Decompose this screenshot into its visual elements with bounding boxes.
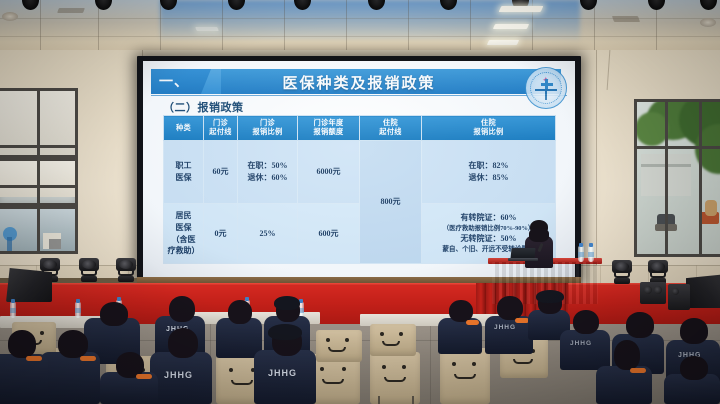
cell-outpatient-annual-cap: 600元 [298,204,360,264]
uniform-logo-text: JHHG [268,368,297,378]
wall-seam [607,50,611,90]
th-outpatient-ratio: 门诊 报销比例 [238,116,298,141]
baseball-cap [274,296,300,310]
cell-outpatient-ratio: 25% [238,204,298,264]
th-outpatient-annual-cap: 门诊年度 报销额度 [298,116,360,141]
audience-member [438,300,482,354]
th-inpatient-deductible: 住院 起付线 [360,116,422,141]
audience-member [0,330,48,404]
moving-head-light [79,258,99,282]
baseball-cap [536,290,564,303]
table-header-row: 种类 门诊 起付线 门诊 报销比例 门诊年度 报销额度 [164,116,556,141]
water-bottle [75,302,81,318]
ceiling [0,0,720,56]
cell-inpatient-ratio: 在职：82% 退休：85% [422,141,556,204]
slide-subtitle: （二）报销政策 [163,99,244,115]
audience-member [40,330,100,404]
outdoor-tree [635,112,669,146]
uniform-logo-text: JHHG [164,370,193,380]
ceiling-spotlight [22,0,39,10]
uniform-logo-text: JHHG [494,324,516,331]
ceiling-light-panel [499,6,544,12]
cell-inpatient-deductible-merged: 800元 [360,141,422,264]
uniform-logo-text: JHHG [570,340,592,347]
audience-member [596,340,652,404]
left-window-bottom-glass [0,206,78,254]
presenter-laptop [508,248,538,261]
ceiling-light-panel [487,40,519,45]
stage-monitor-speaker [6,268,52,302]
moving-head-light [116,258,136,282]
ceiling-vent [612,16,640,22]
audience-chair[interactable] [440,348,490,404]
audience-chair[interactable] [370,324,416,356]
th-category: 种类 [164,116,204,141]
th-outpatient-deductible: 门诊 起付线 [204,116,238,141]
water-bottle [578,246,584,262]
cell-outpatient-ratio: 在职：50% 退休：60% [238,141,298,204]
stage-monitor-speaker [686,274,720,308]
smoke-detector [700,18,716,27]
slide-title: 医保种类及报销政策 [143,72,575,93]
water-bottle [588,246,594,262]
audience-member: JHHG [485,296,533,354]
moving-head-light [648,260,668,284]
line-array-speaker [668,284,690,310]
conference-hall-scene: 一、 医保种类及报销政策 ✦ （二）报销政策 [0,0,720,404]
presentation-slide: 一、 医保种类及报销政策 ✦ （二）报销政策 [143,61,575,277]
th-inpatient-ratio: 住院 报销比例 [422,116,556,141]
cell-outpatient-deductible: 0元 [204,204,238,264]
cell-category: 居民 医保 （含医 疗救助） [164,204,204,264]
slide-title-bar: 一、 医保种类及报销政策 [143,69,575,94]
cell-outpatient-deductible: 60元 [204,141,238,204]
water-bottle [10,302,16,318]
audience-member: JHHG [150,328,212,404]
line-array-speaker [640,282,666,304]
projection-screen: 一、 医保种类及报销政策 ✦ （二）报销政策 [143,61,575,277]
left-window-upper [0,88,78,158]
audience-member [664,356,720,404]
ceiling-light-panel [493,24,529,29]
wall-seam [596,50,597,265]
ceiling-vent [57,8,85,13]
ceiling-spotlight [648,0,665,10]
audience-member [100,352,158,404]
baseball-cap [268,324,302,340]
slide-title-underline [151,95,567,96]
right-window [634,99,720,257]
audience-member: JHHG [254,326,316,404]
moving-head-light [612,260,632,284]
ceiling-spotlight [700,0,717,10]
reimbursement-policy-table: 种类 门诊 起付线 门诊 报销比例 门诊年度 报销额度 [163,115,556,264]
cell-category: 职工 医保 [164,141,204,204]
hospital-emblem-icon: ✦ [525,67,567,109]
ceiling-light-panel [195,27,219,31]
smoke-detector [2,12,18,21]
left-window-lower [0,158,78,206]
audience-chair[interactable] [316,330,362,362]
cell-outpatient-annual-cap: 6000元 [298,141,360,204]
table-row: 职工 医保 60元 在职：50% 退休：60% 6000元 800元 在职：82… [164,141,556,204]
